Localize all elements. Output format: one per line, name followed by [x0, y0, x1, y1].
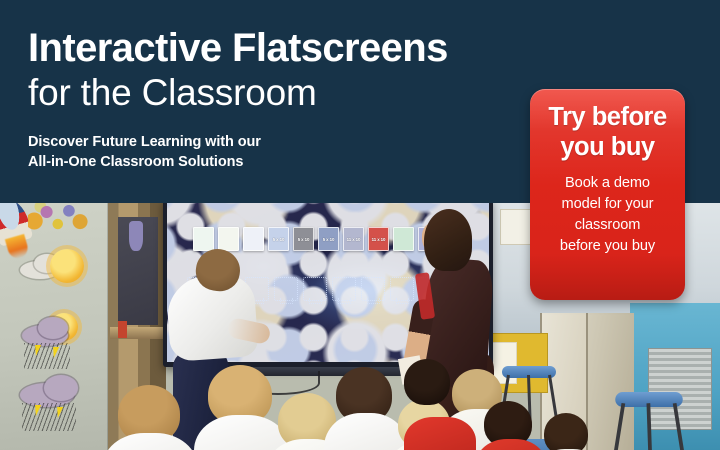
pupil-shirt — [324, 413, 408, 450]
math-tile[interactable] — [243, 227, 264, 251]
badge-subtext-line-2: model for your — [540, 194, 675, 215]
confetti-cutout — [28, 203, 90, 233]
answer-slot[interactable] — [332, 277, 356, 301]
tagline-line-1: Discover Future Learning with our — [28, 132, 528, 152]
headline-block: Interactive Flatscreens for the Classroo… — [28, 26, 528, 172]
try-before-you-buy-badge[interactable]: Try before you buy Book a demo model for… — [530, 89, 685, 300]
tagline-line-2: All-in-One Classroom Solutions — [28, 152, 528, 172]
badge-heading-line-1: Try before — [538, 102, 677, 132]
math-tile[interactable] — [193, 227, 214, 251]
sun-cutout — [50, 249, 84, 283]
math-tile[interactable]: 5 x 10 — [318, 227, 339, 251]
page-title: Interactive Flatscreens — [28, 26, 528, 70]
badge-subtext-line-3: classroom — [540, 215, 675, 236]
math-tile[interactable] — [393, 227, 414, 251]
badge-subtext-line-4: before you buy — [540, 236, 675, 257]
rain-streaks — [24, 343, 70, 369]
math-tile[interactable]: 5 x 10 — [268, 227, 289, 251]
stool — [615, 392, 683, 450]
tagline: Discover Future Learning with our All-in… — [28, 132, 528, 172]
math-tile[interactable]: 5 x 10 — [293, 227, 314, 251]
pupil-head — [404, 359, 450, 405]
answer-slot[interactable] — [303, 277, 327, 301]
page-subtitle: for the Classroom — [28, 70, 528, 116]
rain-cloud-cutout — [38, 317, 68, 339]
promo-banner: 5 x 105 x 105 x 1011 x 1011 x 107 x 107 … — [0, 0, 720, 450]
easel-cloth — [129, 221, 143, 251]
math-tile[interactable]: 11 x 10 — [368, 227, 389, 251]
pupil-head — [544, 413, 588, 450]
answer-slot[interactable] — [274, 277, 298, 301]
badge-heading-line-2: you buy — [538, 132, 677, 162]
math-tile[interactable] — [218, 227, 239, 251]
pupil-shirt-red — [404, 417, 476, 450]
teacher-hair — [424, 209, 472, 271]
badge-subtext-line-1: Book a demo — [540, 173, 675, 194]
math-tile[interactable]: 11 x 10 — [343, 227, 364, 251]
easel-clip — [118, 321, 127, 338]
stool-leg — [647, 403, 653, 450]
badge-heading: Try before you buy — [538, 102, 677, 162]
rain-streaks — [22, 403, 76, 431]
answer-slot[interactable] — [361, 277, 385, 301]
badge-subtext: Book a demo model for your classroom bef… — [540, 173, 675, 257]
storm-cloud-cutout — [44, 375, 78, 401]
answer-slot[interactable] — [390, 277, 414, 301]
